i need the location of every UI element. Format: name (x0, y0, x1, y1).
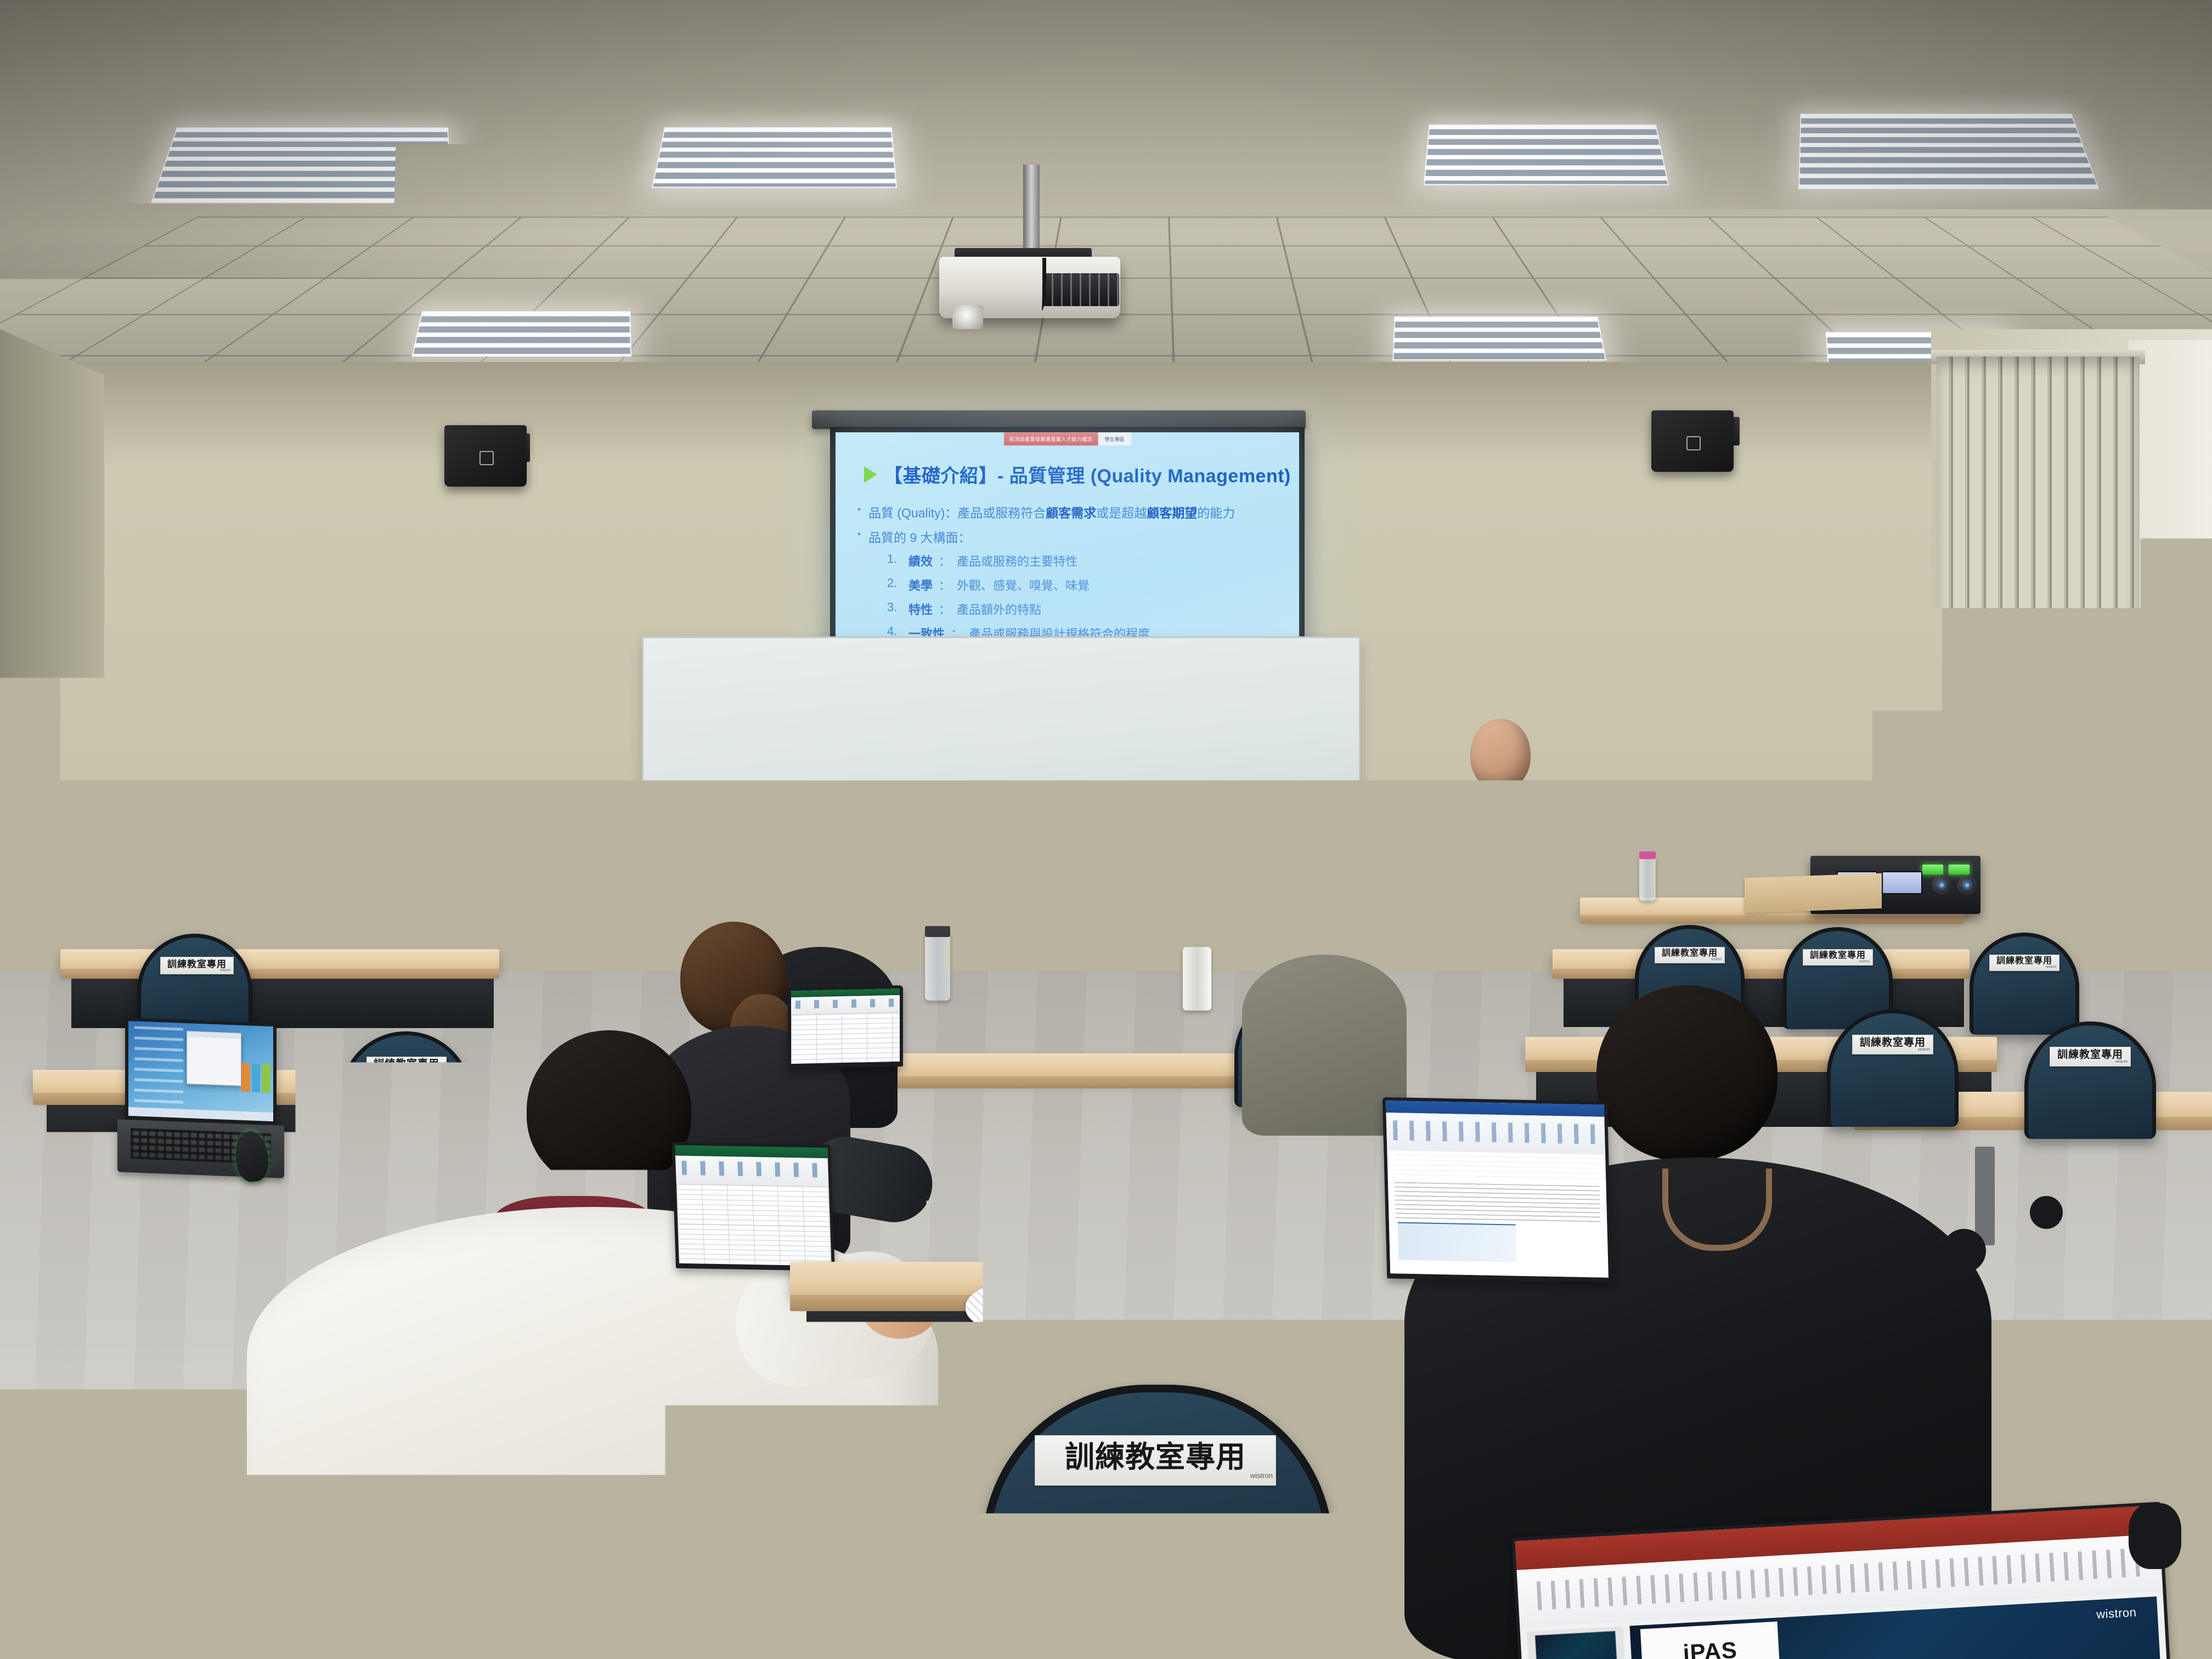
cardboard-box (1745, 873, 1882, 913)
presenter-glasses-icon (1471, 746, 1494, 755)
ipas-logo: iPAS (1640, 1622, 1780, 1659)
outlook-message-body[interactable] (1395, 1182, 1601, 1224)
powerpoint-slide-brand: wistron (2096, 1605, 2137, 1622)
water-bottle-desk[interactable] (925, 933, 950, 1001)
windows-desktop-ui (128, 1021, 273, 1121)
chair-label-brand: wistron (2046, 966, 2056, 969)
list-item: 1. 績效 ： 產品或服務的主要特性 (887, 552, 1286, 569)
tile-blue[interactable] (252, 1064, 261, 1092)
item-desc: 產品額外的特點 (957, 600, 1041, 618)
tile-green[interactable] (262, 1064, 270, 1092)
chair-label: 訓練教室專用 wistron (1852, 1035, 1933, 1054)
item-sep: ： (939, 552, 951, 569)
ceiling-light-6 (1392, 317, 1606, 360)
laptop-lid (788, 985, 903, 1069)
chair-base-right (1975, 1147, 1995, 1245)
slide-bullet-definition: • 品質 (Quality)：產品或服務符合顧客需求或是超越顧客期望的能力 (857, 503, 1286, 521)
wall-speaker-right (1651, 410, 1734, 472)
chair-label-brand: wistron (2115, 1060, 2128, 1064)
ceiling-light-4 (1798, 114, 2099, 189)
chair-label-text: 訓練教室專用 (1996, 957, 2052, 966)
bullet-dot-icon-2: • (857, 527, 861, 541)
excel-grid[interactable] (676, 1184, 832, 1266)
item-number: 3. (887, 600, 902, 618)
esd-cap[interactable] (966, 1282, 1070, 1332)
chair-label-brand: wistron (220, 969, 230, 972)
outlook-ui (1386, 1101, 1609, 1278)
chair-label-text: 訓練教室專用 (1662, 949, 1718, 958)
list-heading: 品質的 9 大構面： (868, 527, 971, 546)
chair-label: 訓練教室專用 wistron (1035, 1435, 1276, 1486)
tumbler-desk[interactable] (1183, 947, 1211, 1011)
projection-screen-case (812, 410, 1306, 429)
microphone-head-icon (1454, 741, 1472, 759)
projector-ports (1042, 273, 1119, 306)
ceiling-light-2 (652, 127, 897, 188)
chair-label: 訓練教室專用 wistron (1989, 955, 2059, 971)
chair-label: 訓練教室專用 wistron (160, 957, 234, 974)
outlook-signature-block (1398, 1222, 1517, 1262)
av-display-channel-2 (1882, 871, 1922, 894)
excel-ribbon[interactable] (791, 995, 900, 1015)
item-number: 2. (887, 576, 902, 594)
bottle-cap (925, 926, 950, 937)
bullet-dot-icon: • (857, 503, 861, 517)
ceiling-light-1 (151, 127, 452, 202)
chair-label: 訓練教室專用 wistron (969, 1150, 1110, 1181)
caster (2030, 1196, 2063, 1229)
chair-label-brand: wistron (1250, 1472, 1273, 1479)
desktop-dialog-window[interactable] (187, 1031, 241, 1086)
av-volume-knob-2[interactable] (1957, 876, 1976, 894)
projector-pole (1023, 165, 1040, 258)
slide-thumbnail[interactable] (1534, 1630, 1617, 1659)
student-head (527, 1030, 691, 1189)
student-head (1596, 985, 1778, 1161)
chair-row1-d-rim (1970, 933, 2079, 1035)
desk-row1-left (60, 949, 499, 970)
item-key: 美學 (909, 576, 933, 594)
chair-label-brand: wistron (431, 1069, 443, 1073)
laptop-lid (125, 1018, 276, 1127)
excel-ui (791, 989, 900, 1064)
slide-bullet-heading: • 品質的 9 大構面： (857, 527, 1286, 546)
av-status-led-1 (1922, 865, 1943, 874)
classroom-scene: 經濟部產業發展署產業人才能力鑑定 學生專區 【基礎介紹】- 品質管理 (Qual… (0, 0, 2212, 1659)
student-head (1272, 870, 1370, 969)
desk-row1-right-edge (1553, 969, 1970, 979)
laptop-screen[interactable] (1386, 1101, 1609, 1278)
av-volume-knob-1[interactable] (1932, 876, 1951, 894)
excel-ui (675, 1145, 831, 1266)
chair-label-text: 訓練教室專用 (2057, 1049, 2123, 1060)
chair-label-text: 訓練教室專用 (987, 1154, 1092, 1171)
chair-label-brand: wistron (1859, 960, 1870, 963)
water-bottle-instructor-desk[interactable] (1639, 856, 1656, 901)
student-leg (33, 1234, 198, 1432)
caster (60, 1558, 121, 1618)
whiteboard (642, 636, 1361, 823)
item-desc: 外觀、感覺、嗅覺、味覺 (957, 576, 1090, 594)
presenter-badge (1481, 850, 1501, 876)
chair-label: 訓練教室專用 wistron (366, 1057, 447, 1075)
slide-title: 【基礎介紹】- 品質管理 (Quality Management) (884, 461, 1291, 488)
item-sep: ： (939, 600, 951, 618)
green-triangle-icon (864, 466, 877, 483)
banner-section-label: 學生專區 (1098, 432, 1131, 445)
list-item: 3. 特性 ： 產品額外的特點 (887, 600, 1286, 618)
excel-ribbon[interactable] (675, 1156, 829, 1187)
projector-lens (952, 305, 983, 329)
slide-header-banner: 經濟部產業發展署產業人才能力鑑定 學生專區 (1003, 432, 1131, 445)
chair-label: 訓練教室專用 wistron (2050, 1047, 2131, 1066)
excel-grid[interactable] (791, 1013, 900, 1064)
caster (1942, 1229, 1986, 1273)
desktop-tiles[interactable] (241, 1063, 270, 1093)
outlook-recipient-fields[interactable] (1393, 1154, 1599, 1182)
instructor-desk-edge (1580, 915, 1964, 924)
item-sep: ： (939, 576, 951, 594)
whiteboard-marker-tray (636, 821, 1366, 831)
whiteboard-marker-2[interactable] (712, 817, 742, 821)
desktop-icons[interactable] (134, 1026, 184, 1108)
chair-label-brand: wistron (1091, 1171, 1107, 1176)
slide-thumbnail-pane[interactable] (1527, 1626, 1630, 1659)
phone-device[interactable] (1354, 1306, 1427, 1340)
whiteboard-eraser[interactable] (1355, 815, 1398, 822)
taskbar[interactable] (128, 1107, 273, 1121)
vertical-blinds[interactable] (1937, 357, 2140, 850)
wall-speaker-left (444, 425, 527, 487)
chair-label-text: 訓練教室專用 (1065, 1442, 1246, 1472)
chair-label: 訓練教室專用 wistron (1655, 947, 1725, 963)
item-number: 1. (887, 552, 902, 569)
desk-front (790, 1262, 1514, 1296)
slide-title-row: 【基礎介紹】- 品質管理 (Quality Management) (864, 461, 1288, 488)
av-status-led-2 (1949, 865, 1970, 874)
outlook-ribbon[interactable] (1386, 1113, 1605, 1155)
chair-label-text: 訓練教室專用 (167, 960, 227, 969)
chair-label-text: 訓練教室專用 (1810, 951, 1866, 960)
laptop-screen[interactable] (675, 1145, 831, 1266)
whiteboard-marker-1[interactable] (664, 817, 700, 821)
item-key: 績效 (909, 552, 933, 569)
caster (2129, 1503, 2181, 1569)
whiteboard-marker-3[interactable] (1322, 817, 1355, 821)
bottle-cap (1639, 851, 1656, 859)
laptop-screen[interactable] (791, 989, 900, 1064)
chair-label-brand: wistron (1918, 1048, 1930, 1052)
desk-row1-right (1553, 949, 1970, 970)
tile-orange[interactable] (241, 1063, 250, 1092)
item-key: 特性 (909, 600, 933, 618)
chair-label: 訓練教室專用 wistron (1803, 949, 1873, 966)
chair-label-text: 訓練教室專用 (374, 1059, 439, 1069)
definition-text: 品質 (Quality)：產品或服務符合顧客需求或是超越顧客期望的能力 (868, 503, 1235, 521)
laptop-screen[interactable] (128, 1021, 273, 1121)
student-torso (1242, 955, 1407, 1136)
item-desc: 產品或服務的主要特性 (957, 552, 1077, 569)
ceiling-light-3 (1424, 125, 1669, 185)
chair-label-brand: wistron (1711, 958, 1722, 961)
chair-label-text: 訓練教室專用 (1860, 1037, 1926, 1048)
list-item: 2. 美學 ： 外觀、感覺、嗅覺、味覺 (887, 576, 1286, 594)
laptop-lid (1383, 1097, 1612, 1283)
banner-agency-label: 經濟部產業發展署產業人才能力鑑定 (1003, 432, 1098, 445)
laptop-lid (672, 1142, 835, 1271)
ceiling-light-5 (411, 311, 631, 356)
caster (165, 1481, 201, 1517)
